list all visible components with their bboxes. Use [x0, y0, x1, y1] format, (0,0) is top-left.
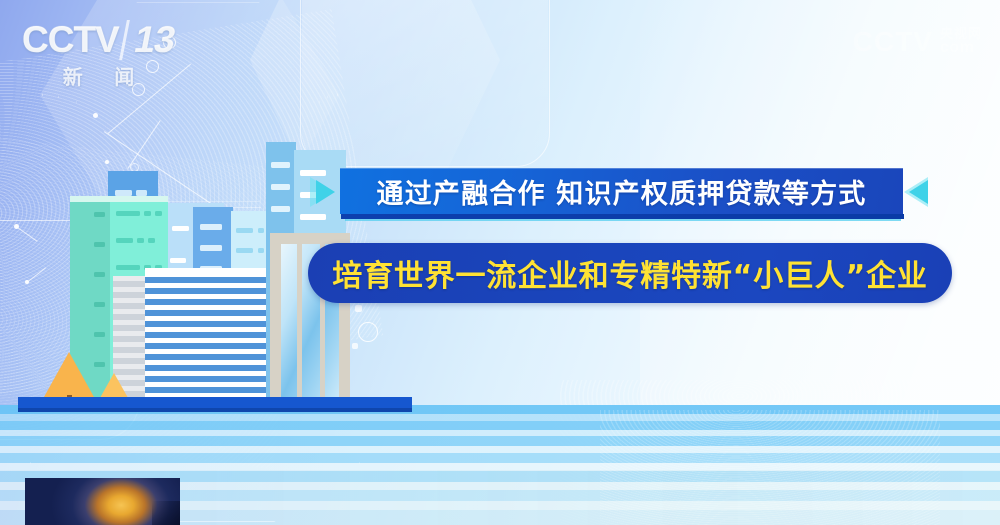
window-dot	[170, 258, 186, 263]
headline-banner-accent-line	[345, 219, 901, 221]
window-band	[300, 170, 326, 176]
window-dot	[236, 248, 253, 253]
arrow-right-pointing-icon	[316, 180, 335, 204]
window-band	[94, 332, 105, 337]
window-band	[200, 245, 222, 251]
broadcast-screen: CCTV 13 新 闻 CCTV 央视网 com	[0, 0, 1000, 525]
window-band	[94, 362, 105, 367]
channel-logo-subtitle: 新 闻	[22, 61, 172, 90]
thumbnail-corner-shade	[152, 501, 180, 525]
thumbnail-swoosh-gold	[25, 478, 106, 525]
window-dot	[258, 228, 264, 233]
watermark-site: 央视网 com	[940, 27, 982, 57]
window-band	[94, 212, 105, 217]
watermark-brand: CCTV	[853, 26, 933, 58]
window-band	[271, 206, 290, 212]
window-band	[271, 184, 290, 190]
building-white-striped	[145, 272, 266, 401]
window-band	[116, 211, 140, 216]
window-band	[137, 238, 144, 243]
arrow-left-pointing-icon	[909, 180, 928, 204]
window-band	[148, 238, 155, 243]
window-dot	[258, 248, 264, 253]
window-band	[116, 265, 140, 270]
window-band	[94, 242, 105, 247]
globe-news-thumbnail[interactable]	[25, 478, 180, 525]
window-band	[94, 272, 105, 277]
headline-text: 通过产融合作 知识产权质押贷款等方式	[377, 172, 867, 211]
headline-banner: 通过产融合作 知识产权质押贷款等方式	[340, 168, 903, 214]
channel-logo-number: 13	[119, 20, 178, 60]
window-band	[116, 238, 133, 243]
window-band	[300, 214, 326, 220]
window-band	[155, 211, 162, 216]
channel-logo-cctv: CCTV	[22, 20, 119, 60]
window-dot	[172, 226, 189, 231]
window-band	[94, 302, 105, 307]
lower-wave-mesh	[600, 410, 940, 525]
window-band	[144, 211, 151, 216]
window-dot	[236, 228, 253, 233]
subline-text: 培育世界一流企业和专精特新“小巨人”企业	[332, 251, 927, 295]
cctv-watermark: CCTV 央视网 com	[853, 26, 982, 58]
building-mint-roof	[70, 196, 168, 202]
subline-banner: 培育世界一流企业和专精特新“小巨人”企业	[308, 243, 952, 303]
watermark-domain: com	[940, 40, 982, 57]
channel-logo: CCTV 13 新 闻	[22, 20, 172, 85]
ground-bar-shadow	[18, 408, 412, 412]
tree-large	[44, 352, 94, 397]
building-white-striped-roof	[145, 268, 266, 274]
window-band	[271, 162, 290, 168]
building-framed-highrise-pillar	[297, 244, 302, 401]
channel-logo-main: CCTV 13	[22, 20, 172, 60]
watermark-cn-name: 央视网	[940, 27, 982, 41]
window-band	[200, 224, 222, 230]
